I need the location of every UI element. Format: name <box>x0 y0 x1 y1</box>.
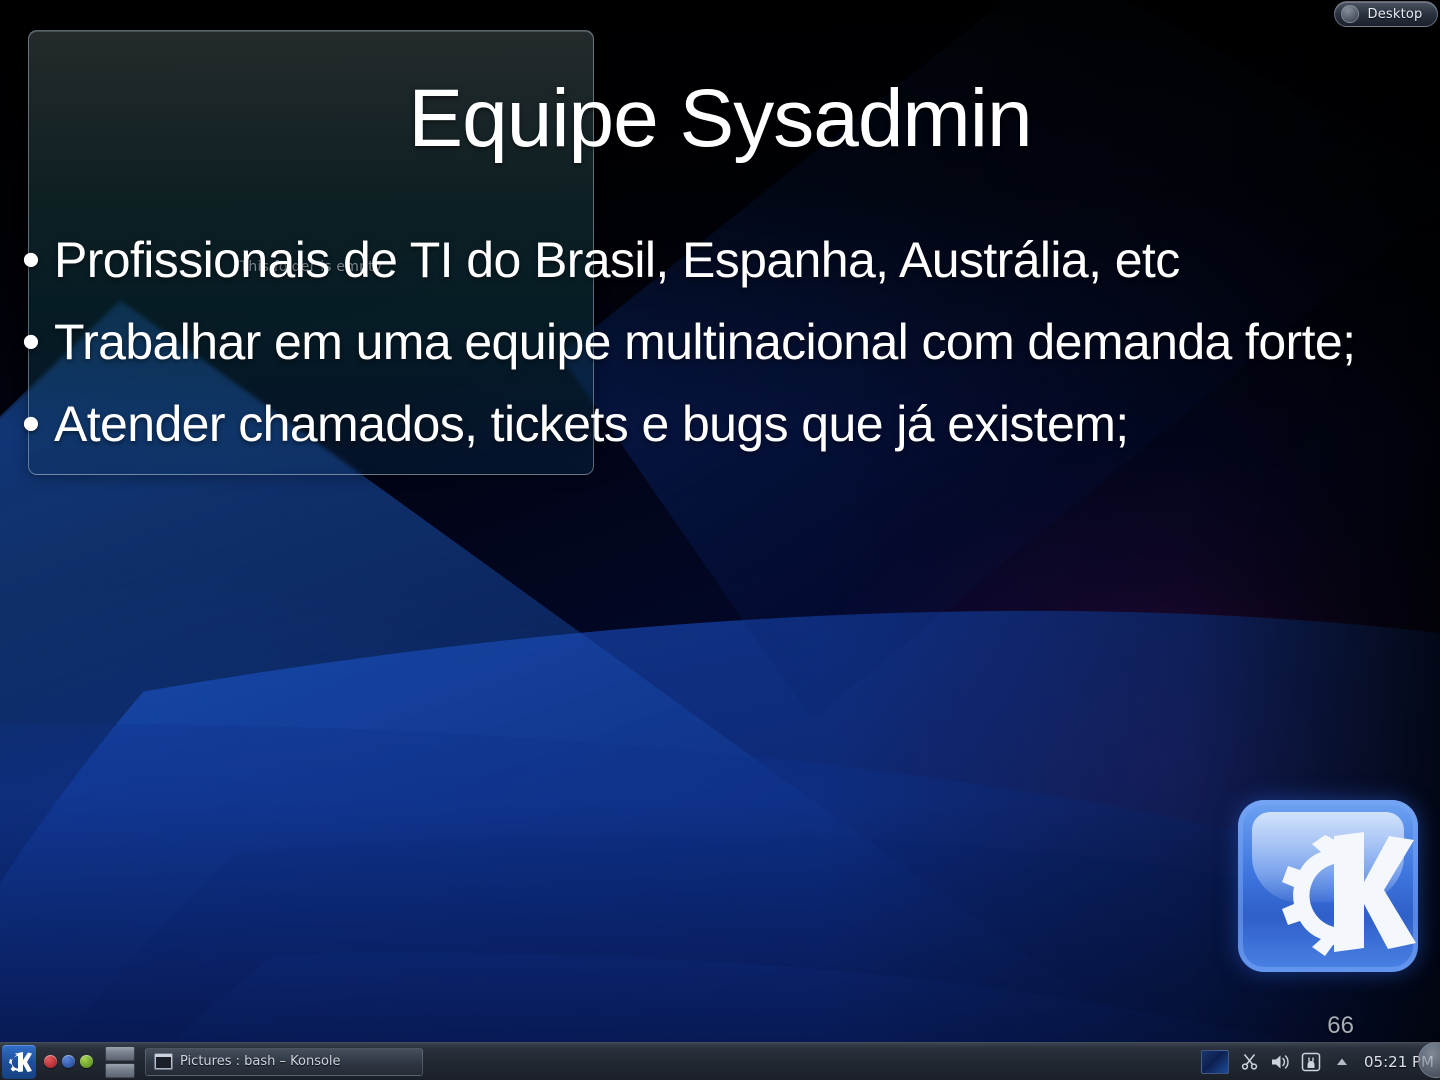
bullet-marker: • <box>8 386 54 462</box>
desktop-pager[interactable] <box>105 1046 135 1078</box>
task-manager: Pictures : bash – Konsole <box>145 1047 1201 1077</box>
dot-blue-icon[interactable] <box>62 1055 75 1068</box>
list-item: • Profissionais de TI do Brasil, Espanha… <box>8 222 1408 298</box>
system-tray: 05:21 PM <box>1201 1050 1434 1074</box>
desktop-screen: This folder is empty Desktop Equipe Sysa… <box>0 0 1440 1080</box>
klipper-scissors-icon[interactable] <box>1238 1051 1260 1073</box>
list-item: • Trabalhar em uma equipe multinacional … <box>8 304 1408 380</box>
pager-cell-desktop-2[interactable] <box>105 1063 135 1078</box>
desktop-switcher-label: Desktop <box>1359 7 1437 22</box>
konsole-icon <box>154 1053 173 1070</box>
network-plug-icon[interactable] <box>1300 1051 1322 1073</box>
slide-bullet-list: • Profissionais de TI do Brasil, Espanha… <box>8 222 1408 468</box>
slide-number: 66 <box>1327 1012 1354 1040</box>
dot-red-icon[interactable] <box>44 1055 57 1068</box>
task-button-konsole[interactable]: Pictures : bash – Konsole <box>145 1048 423 1076</box>
tray-expand-arrow-icon[interactable] <box>1331 1051 1353 1073</box>
desktop-switcher-button[interactable]: Desktop <box>1334 1 1438 27</box>
kde-launcher-button[interactable] <box>2 1045 36 1079</box>
dot-green-icon[interactable] <box>80 1055 93 1068</box>
bullet-marker: • <box>8 304 54 380</box>
taskbar: Pictures : bash – Konsole <box>0 1042 1440 1080</box>
bullet-text: Atender chamados, tickets e bugs que já … <box>54 386 1129 462</box>
bullet-text: Profissionais de TI do Brasil, Espanha, … <box>54 222 1180 298</box>
slide-title: Equipe Sysadmin <box>0 78 1440 160</box>
volume-icon[interactable] <box>1269 1051 1291 1073</box>
desktop-switcher-icon <box>1341 5 1359 23</box>
bullet-marker: • <box>8 222 54 298</box>
pager-cell-desktop-1[interactable] <box>105 1046 135 1061</box>
activity-indicator[interactable] <box>44 1055 93 1068</box>
task-button-label: Pictures : bash – Konsole <box>180 1054 341 1069</box>
list-item: • Atender chamados, tickets e bugs que j… <box>8 386 1408 462</box>
kde-logo-icon <box>1238 800 1418 972</box>
wallpaper-preview-icon[interactable] <box>1201 1050 1229 1074</box>
bullet-text: Trabalhar em uma equipe multinacional co… <box>54 304 1355 380</box>
